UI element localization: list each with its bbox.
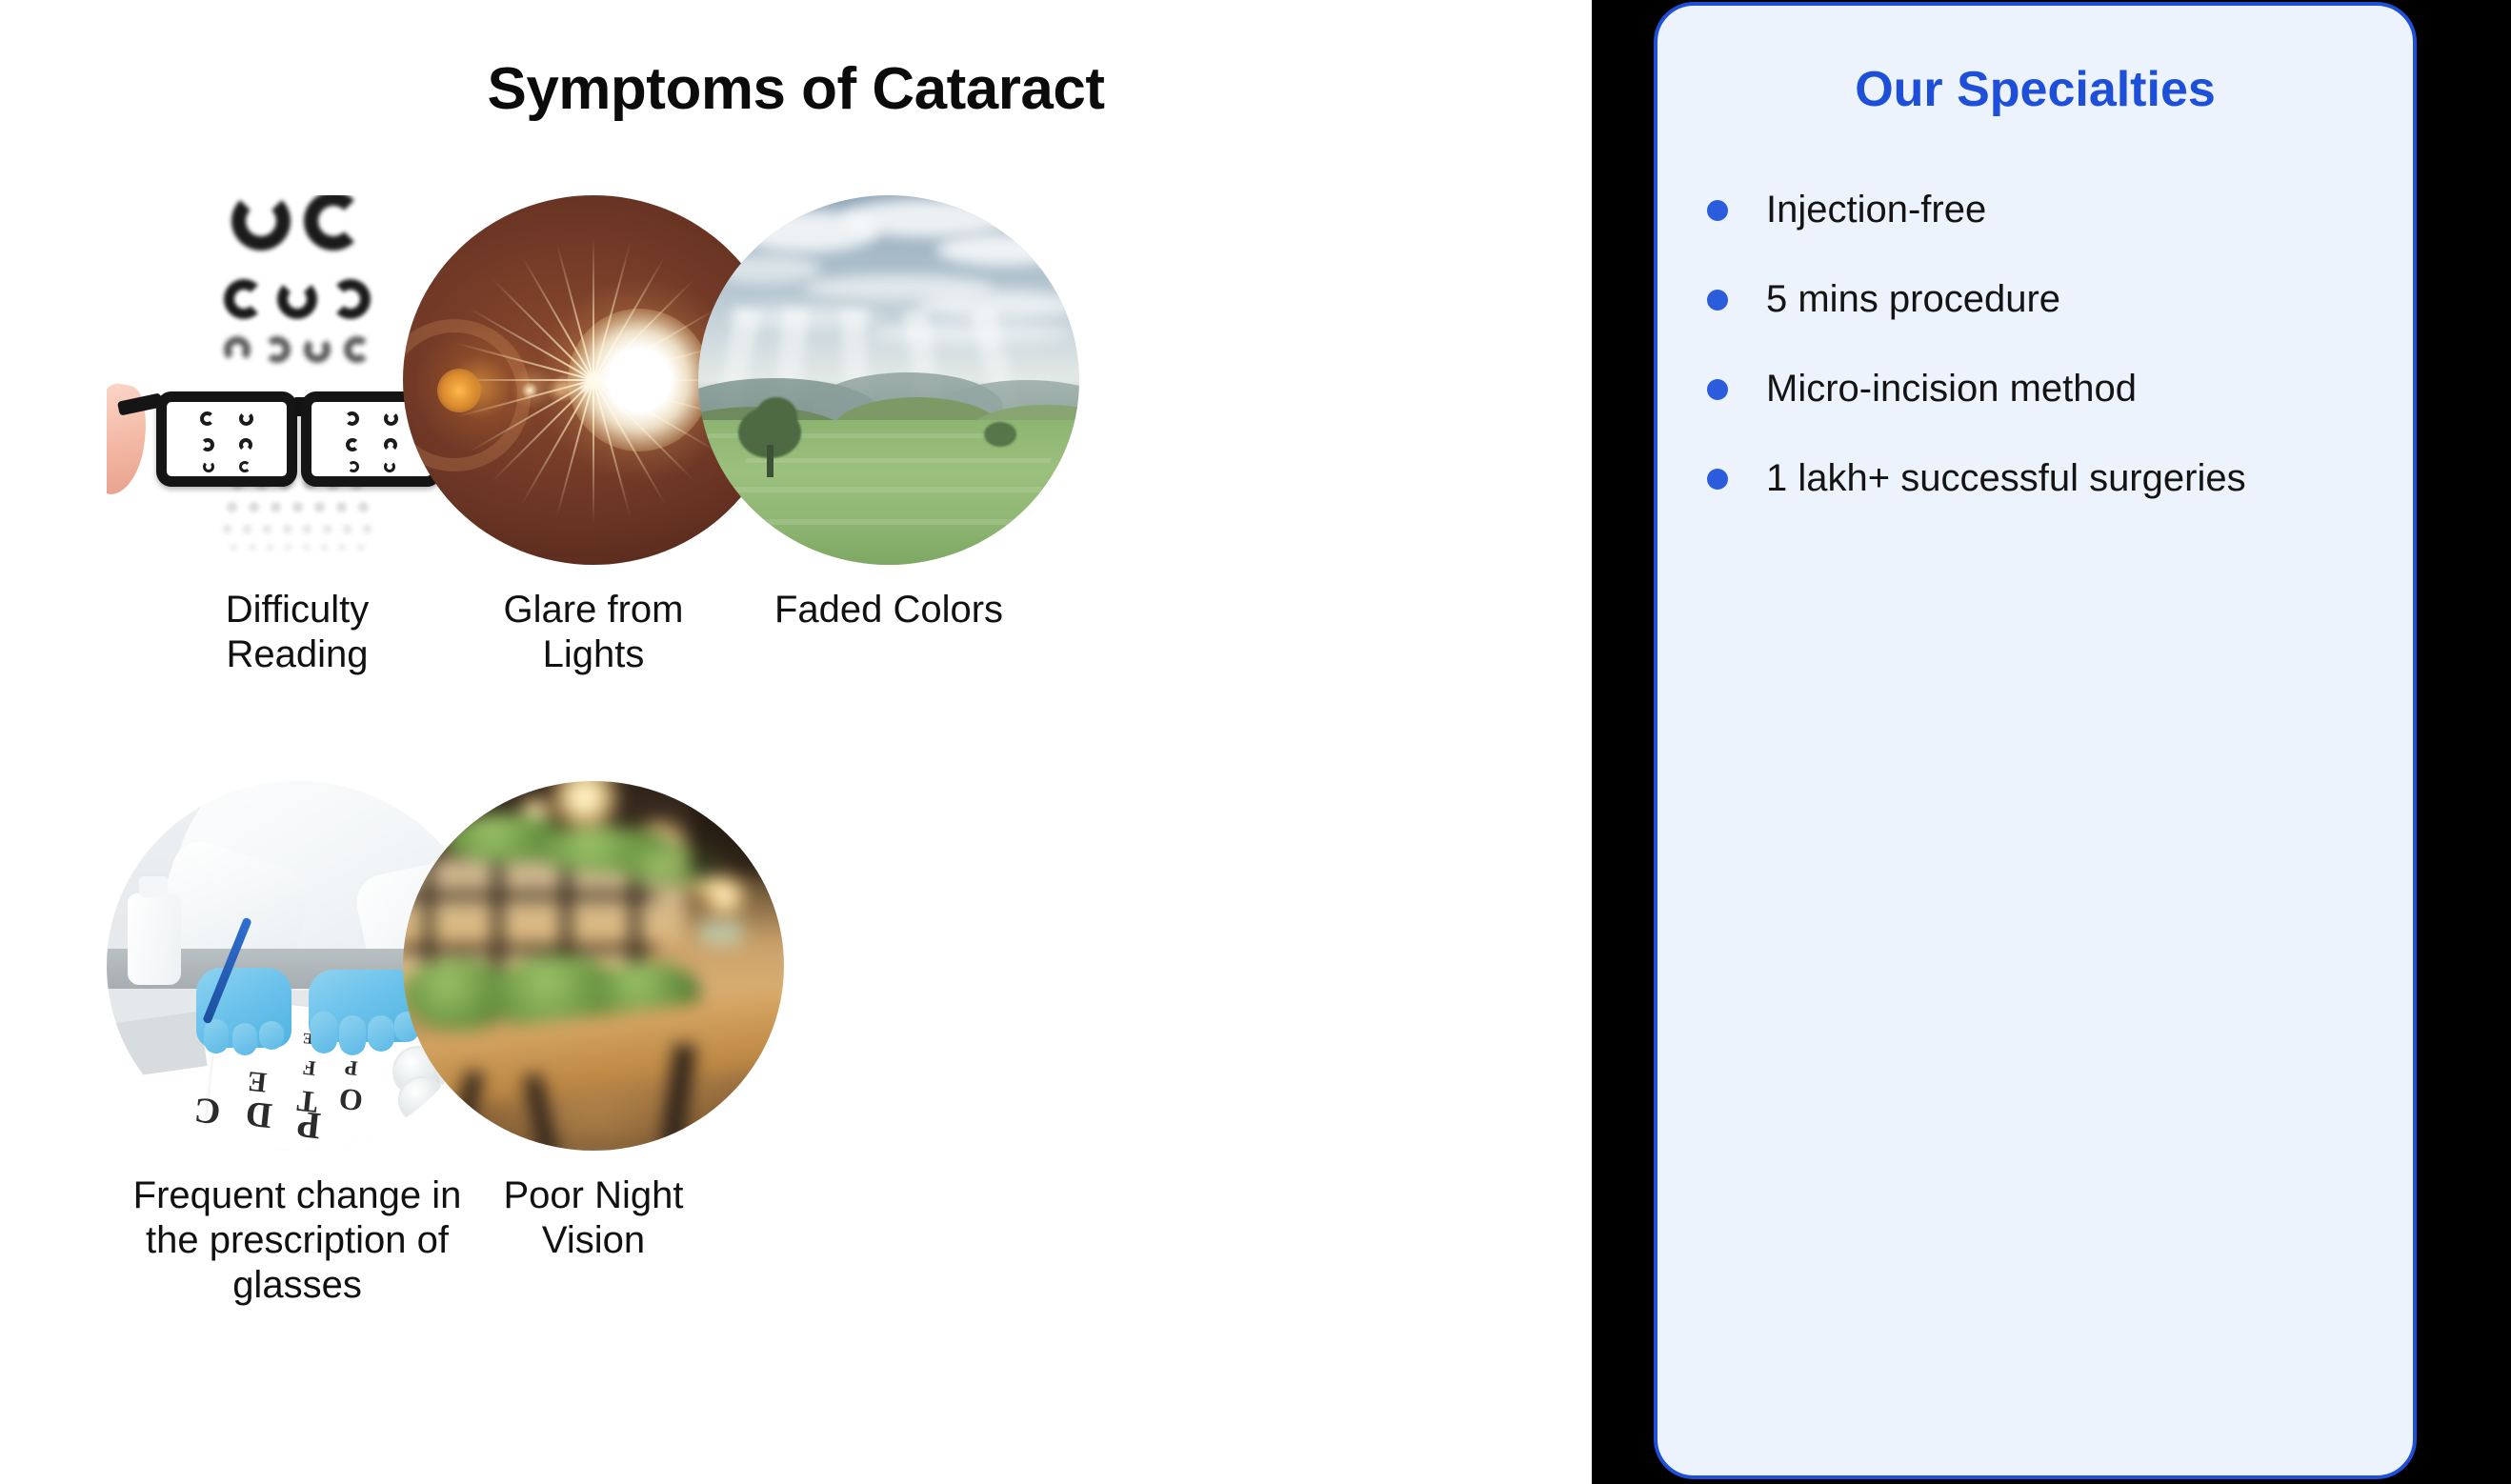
- bullet-dot-icon: [1707, 379, 1728, 400]
- flare-orb: [578, 380, 593, 395]
- specialty-list-item[interactable]: Micro-incision method: [1707, 366, 2413, 411]
- symptom-card-faded-colors[interactable]: Faded Colors: [689, 195, 1089, 632]
- symptom-row: E F F P E T O C D P: [0, 781, 1592, 1157]
- symptom-label: Poor Night Vision: [393, 1173, 793, 1263]
- bullet-dot-icon: [1707, 469, 1728, 490]
- flare-ring: [403, 319, 531, 471]
- page-title: Symptoms of Cataract: [0, 55, 1592, 123]
- our-specialties-card: Our Specialties Injection-free 5 mins pr…: [1654, 2, 2417, 1479]
- medicine-bottle: [128, 893, 181, 985]
- symptom-label: Faded Colors: [689, 588, 1089, 632]
- flare-orb: [546, 376, 573, 403]
- specialty-list-item[interactable]: 1 lakh+ successful surgeries: [1707, 455, 2413, 501]
- faded-landscape-icon: [698, 195, 1079, 565]
- symptom-row: Difficulty Reading: [0, 195, 1592, 567]
- bottle-cap: [139, 876, 168, 897]
- specialties-title: Our Specialties: [1657, 61, 2413, 118]
- specialty-list-item[interactable]: Injection-free: [1707, 187, 2413, 232]
- specialties-list: Injection-free 5 mins procedure Micro-in…: [1657, 187, 2413, 501]
- tree-trunk: [767, 445, 773, 477]
- symptoms-panel: Symptoms of Cataract: [0, 0, 1592, 1484]
- symptom-grid: Difficulty Reading: [0, 195, 1592, 1157]
- specialty-label: 1 lakh+ successful surgeries: [1766, 455, 2246, 501]
- specialty-label: Injection-free: [1766, 187, 1986, 232]
- tree-canopy: [755, 397, 797, 435]
- symptom-card-poor-night-vision[interactable]: Poor Night Vision: [393, 781, 793, 1263]
- glasses-lens-left: [156, 391, 297, 487]
- slide-canvas: Symptoms of Cataract: [0, 0, 2511, 1484]
- blurred-night-cafe-icon: [403, 781, 784, 1151]
- specialty-list-item[interactable]: 5 mins procedure: [1707, 276, 2413, 322]
- bullet-dot-icon: [1707, 290, 1728, 311]
- specialty-label: Micro-incision method: [1766, 366, 2137, 411]
- tree-canopy: [984, 422, 1016, 447]
- specialty-label: 5 mins procedure: [1766, 276, 2060, 322]
- bullet-dot-icon: [1707, 200, 1728, 221]
